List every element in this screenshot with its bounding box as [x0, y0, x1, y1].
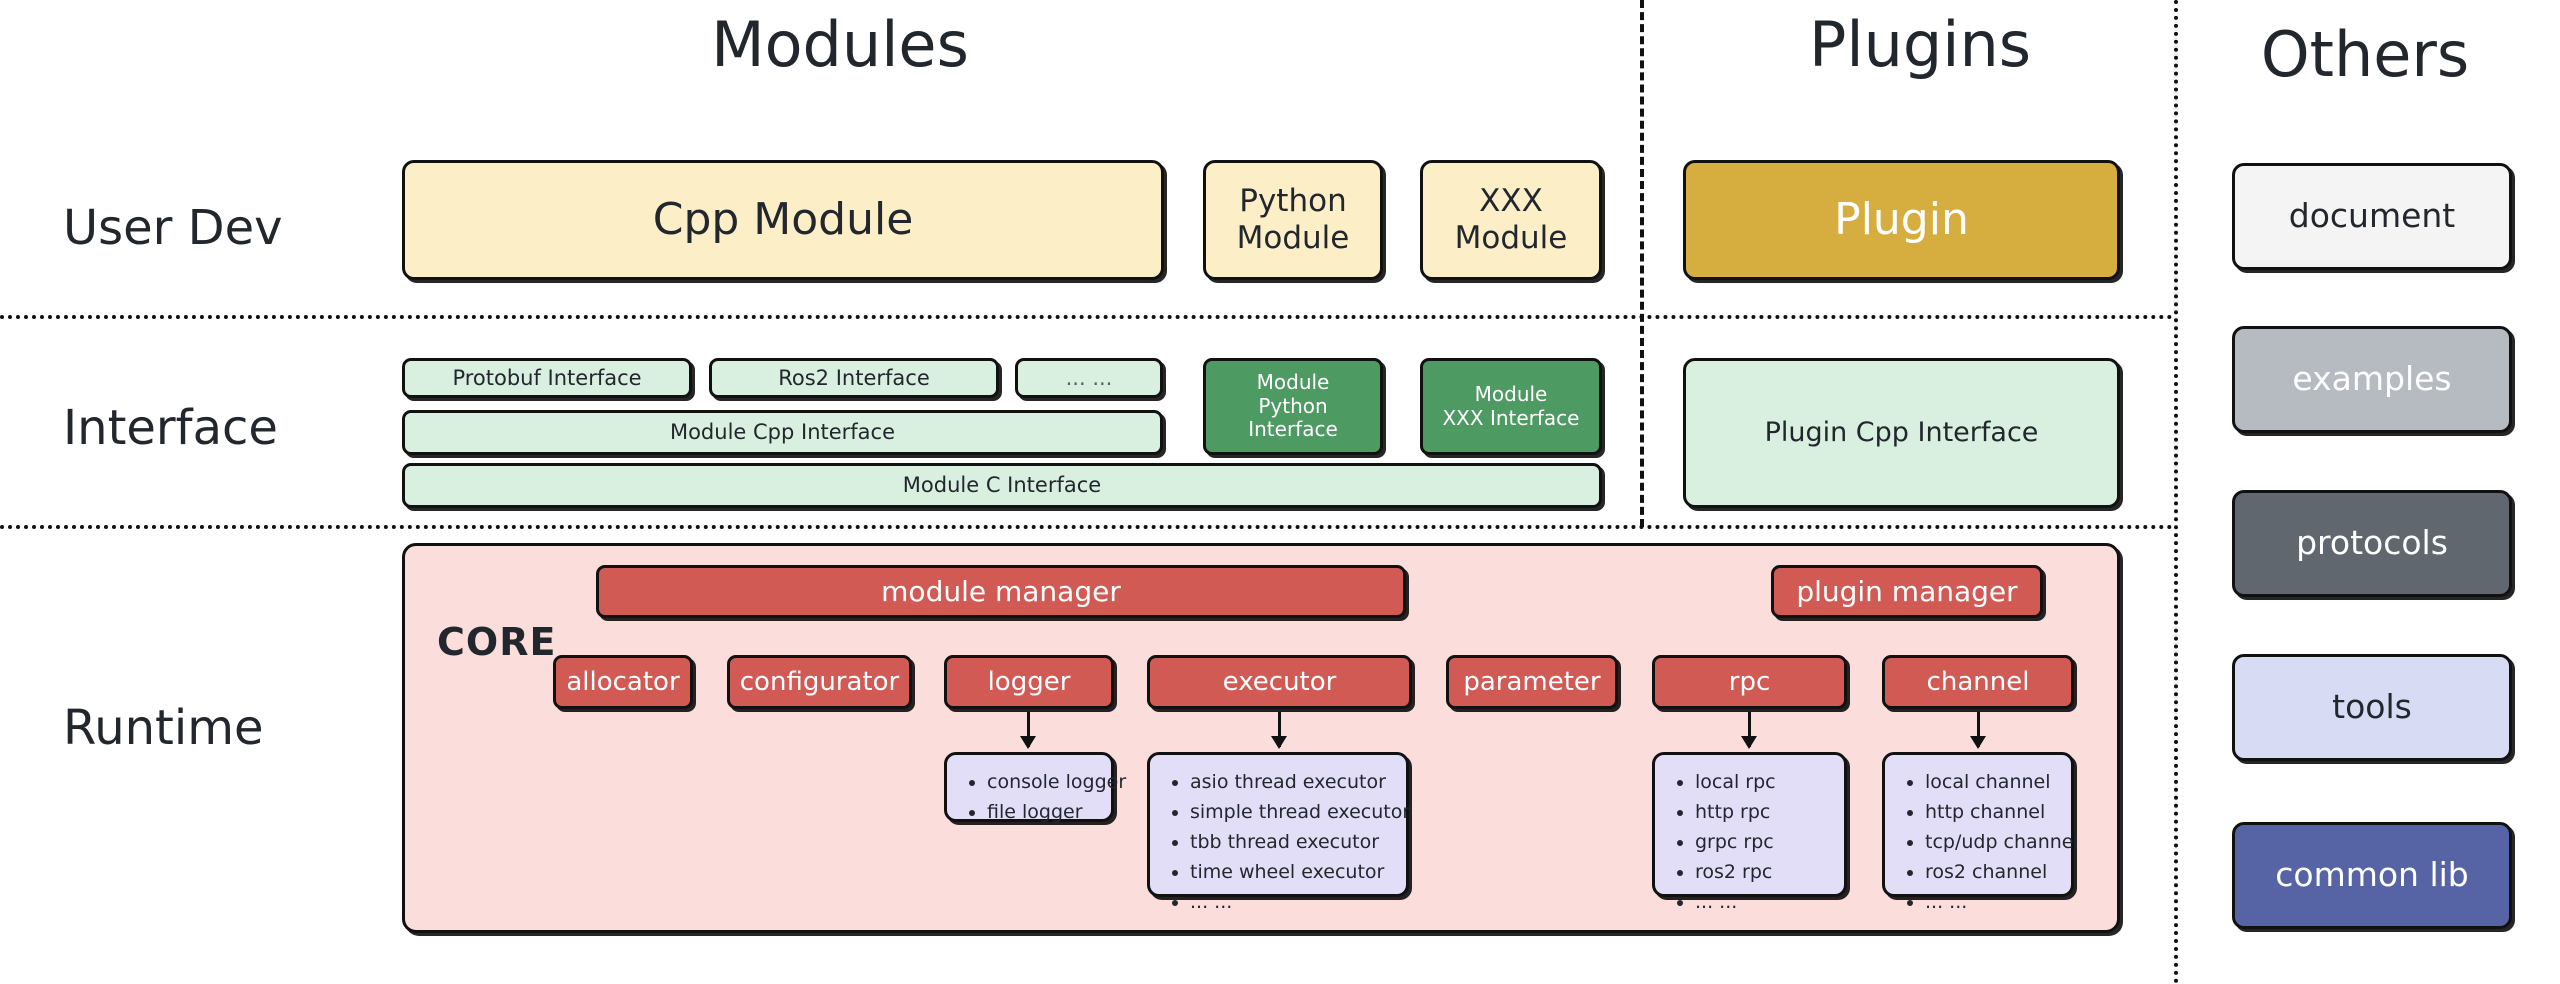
panel-logger-details: console logger file logger [944, 752, 1114, 822]
box-other-interface-ellipsis[interactable]: ... ... [1015, 358, 1163, 398]
box-component-logger-label: logger [982, 667, 1077, 698]
box-python-module-label-line1: Python [1233, 183, 1352, 220]
box-xxx-module[interactable]: XXX Module [1420, 160, 1602, 280]
box-ros2-interface-label: Ros2 Interface [772, 366, 936, 391]
panel-channel-details: local channel http channel tcp/udp chann… [1882, 752, 2074, 897]
list-item: time wheel executor [1190, 857, 1392, 887]
arrow-logger-to-details [1027, 712, 1030, 747]
box-python-module[interactable]: Python Module [1203, 160, 1383, 280]
box-module-python-interface-label-line2: Python Interface [1206, 395, 1380, 442]
list-item: grpc rpc [1695, 827, 1830, 857]
box-module-xxx-interface-label-line2: XXX Interface [1436, 407, 1585, 431]
column-title-modules: Modules [400, 8, 1280, 81]
box-component-executor-label: executor [1217, 667, 1343, 698]
rpc-details-list: local rpc http rpc grpc rpc ros2 rpc ...… [1669, 767, 1830, 917]
box-plugin[interactable]: Plugin [1683, 160, 2120, 280]
list-item: ros2 channel [1925, 857, 2057, 887]
list-item: local rpc [1695, 767, 1830, 797]
box-module-cpp-interface[interactable]: Module Cpp Interface [402, 410, 1163, 455]
box-component-channel-label: channel [1921, 667, 2036, 698]
box-component-parameter-label: parameter [1457, 667, 1606, 698]
separator-userdev-interface [0, 315, 2174, 319]
list-item: tcp/udp channel [1925, 827, 2057, 857]
box-component-executor[interactable]: executor [1147, 655, 1412, 709]
box-cpp-module-label: Cpp Module [647, 194, 920, 246]
list-item: ... ... [1190, 887, 1392, 917]
list-item: console logger [987, 767, 1097, 797]
core-label: CORE [437, 620, 556, 664]
box-plugin-cpp-interface-label: Plugin Cpp Interface [1759, 417, 2045, 449]
arrow-executor-to-details [1278, 712, 1281, 747]
column-title-others: Others [2200, 18, 2530, 91]
list-item: ... ... [1695, 887, 1830, 917]
list-item: ... ... [1925, 887, 2057, 917]
box-plugin-manager[interactable]: plugin manager [1771, 565, 2043, 618]
row-label-user-dev: User Dev [63, 200, 283, 256]
column-title-plugins: Plugins [1700, 8, 2140, 81]
panel-rpc-details: local rpc http rpc grpc rpc ros2 rpc ...… [1652, 752, 1847, 897]
executor-details-list: asio thread executor simple thread execu… [1164, 767, 1392, 917]
list-item: tbb thread executor [1190, 827, 1392, 857]
list-item: http rpc [1695, 797, 1830, 827]
panel-executor-details: asio thread executor simple thread execu… [1147, 752, 1409, 897]
row-label-runtime: Runtime [63, 700, 263, 756]
box-module-xxx-interface[interactable]: Module XXX Interface [1420, 358, 1602, 455]
list-item: local channel [1925, 767, 2057, 797]
box-module-xxx-interface-label-line1: Module [1469, 383, 1554, 407]
box-others-examples-label: examples [2286, 360, 2457, 399]
box-others-document-label: document [2283, 197, 2462, 236]
box-module-cpp-interface-label: Module Cpp Interface [664, 420, 901, 445]
box-component-logger[interactable]: logger [944, 655, 1114, 709]
box-plugin-label: Plugin [1828, 194, 1975, 246]
box-module-c-interface-label: Module C Interface [897, 473, 1107, 498]
box-python-module-label-line2: Module [1231, 220, 1356, 257]
arrow-channel-to-details [1977, 712, 1980, 747]
box-component-allocator[interactable]: allocator [553, 655, 693, 709]
list-item: asio thread executor [1190, 767, 1392, 797]
box-cpp-module[interactable]: Cpp Module [402, 160, 1164, 280]
box-module-python-interface[interactable]: Module Python Interface [1203, 358, 1383, 455]
box-others-tools-label: tools [2326, 688, 2418, 727]
box-xxx-module-label-line2: Module [1449, 220, 1574, 257]
box-others-protocols-label: protocols [2290, 524, 2454, 563]
list-item: http channel [1925, 797, 2057, 827]
box-module-c-interface[interactable]: Module C Interface [402, 463, 1602, 508]
box-module-python-interface-label-line1: Module [1251, 371, 1336, 395]
box-other-interface-ellipsis-label: ... ... [1060, 366, 1119, 391]
arrow-rpc-to-details [1748, 712, 1751, 747]
list-item: simple thread executor [1190, 797, 1392, 827]
channel-details-list: local channel http channel tcp/udp chann… [1899, 767, 2057, 917]
box-others-tools[interactable]: tools [2232, 654, 2512, 761]
box-others-common-lib[interactable]: common lib [2232, 822, 2512, 929]
box-plugin-manager-label: plugin manager [1790, 575, 2023, 608]
box-component-channel[interactable]: channel [1882, 655, 2074, 709]
box-component-configurator-label: configurator [734, 667, 905, 698]
box-others-examples[interactable]: examples [2232, 326, 2512, 433]
box-component-parameter[interactable]: parameter [1446, 655, 1618, 709]
list-item: ros2 rpc [1695, 857, 1830, 887]
box-module-manager[interactable]: module manager [596, 565, 1406, 618]
box-component-rpc[interactable]: rpc [1652, 655, 1847, 709]
box-protobuf-interface[interactable]: Protobuf Interface [402, 358, 692, 398]
box-component-allocator-label: allocator [560, 667, 685, 698]
architecture-diagram: Modules Plugins Others User Dev Interfac… [0, 0, 2560, 984]
box-xxx-module-label-line1: XXX [1473, 183, 1549, 220]
box-others-document[interactable]: document [2232, 163, 2512, 270]
list-item: file logger [987, 797, 1097, 827]
separator-modules-plugins [1640, 0, 1644, 527]
logger-details-list: console logger file logger [961, 767, 1097, 827]
box-component-configurator[interactable]: configurator [727, 655, 912, 709]
box-protobuf-interface-label: Protobuf Interface [446, 366, 647, 391]
box-others-protocols[interactable]: protocols [2232, 490, 2512, 597]
box-plugin-cpp-interface[interactable]: Plugin Cpp Interface [1683, 358, 2120, 508]
box-module-manager-label: module manager [875, 575, 1127, 608]
box-others-common-lib-label: common lib [2269, 856, 2475, 895]
separator-plugins-others [2174, 0, 2178, 984]
row-label-interface: Interface [63, 400, 278, 456]
box-ros2-interface[interactable]: Ros2 Interface [709, 358, 999, 398]
separator-interface-runtime [0, 525, 2174, 529]
box-component-rpc-label: rpc [1723, 667, 1777, 698]
